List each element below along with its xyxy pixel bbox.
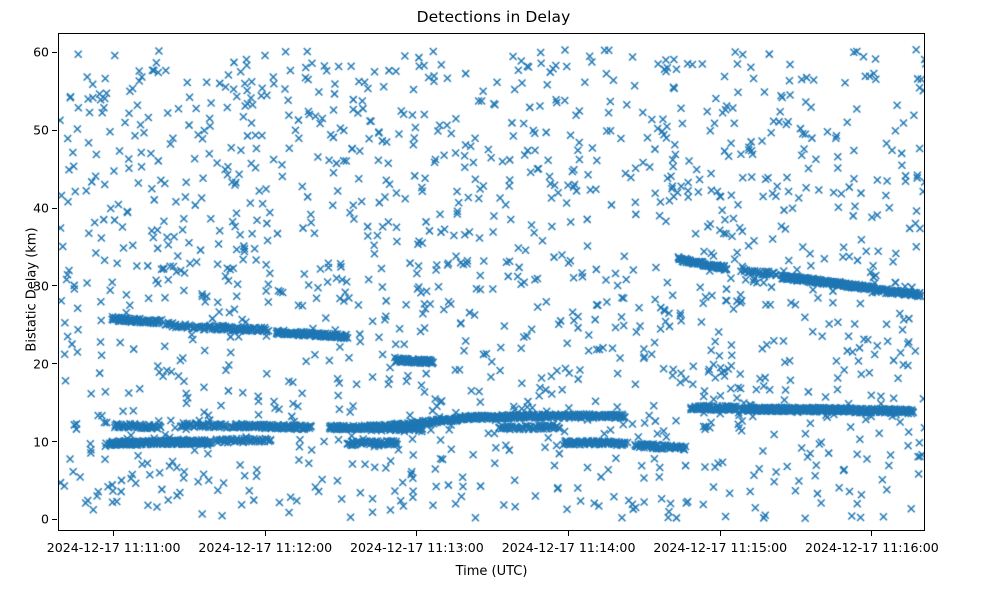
x-tick-label: 2024-12-17 11:16:00 (772, 540, 972, 555)
x-tick-mark (568, 531, 569, 536)
x-tick-mark (416, 531, 417, 536)
x-tick-mark (113, 531, 114, 536)
y-axis-label: Bistatic Delay (km) (25, 160, 40, 420)
matplotlib-figure: Detections in Delay 0102030405060 2024-1… (0, 0, 987, 590)
x-axis-ticks: 2024-12-17 11:11:002024-12-17 11:12:0020… (0, 0, 987, 590)
x-tick-mark (720, 531, 721, 536)
x-tick-mark (871, 531, 872, 536)
x-tick-mark (265, 531, 266, 536)
x-axis-label: Time (UTC) (58, 564, 925, 579)
